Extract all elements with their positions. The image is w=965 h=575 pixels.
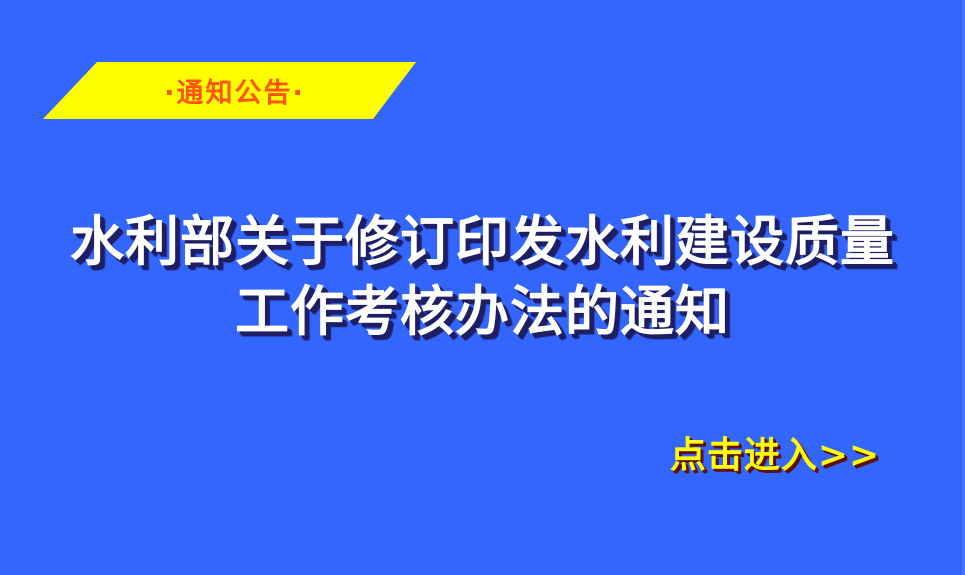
page-title-line-2: 工作考核办法的通知 [0, 276, 965, 346]
badge-label: ·通知公告· [43, 62, 416, 119]
enter-link[interactable]: 点击进入>> [645, 432, 905, 478]
notice-category-badge: ·通知公告· [43, 62, 416, 119]
page-title: 水利部关于修订印发水利建设质量 工作考核办法的通知 [0, 206, 965, 346]
page-title-line-1: 水利部关于修订印发水利建设质量 [0, 206, 965, 276]
notice-banner: ·通知公告· 水利部关于修订印发水利建设质量 工作考核办法的通知 点击进入>> [0, 0, 965, 575]
